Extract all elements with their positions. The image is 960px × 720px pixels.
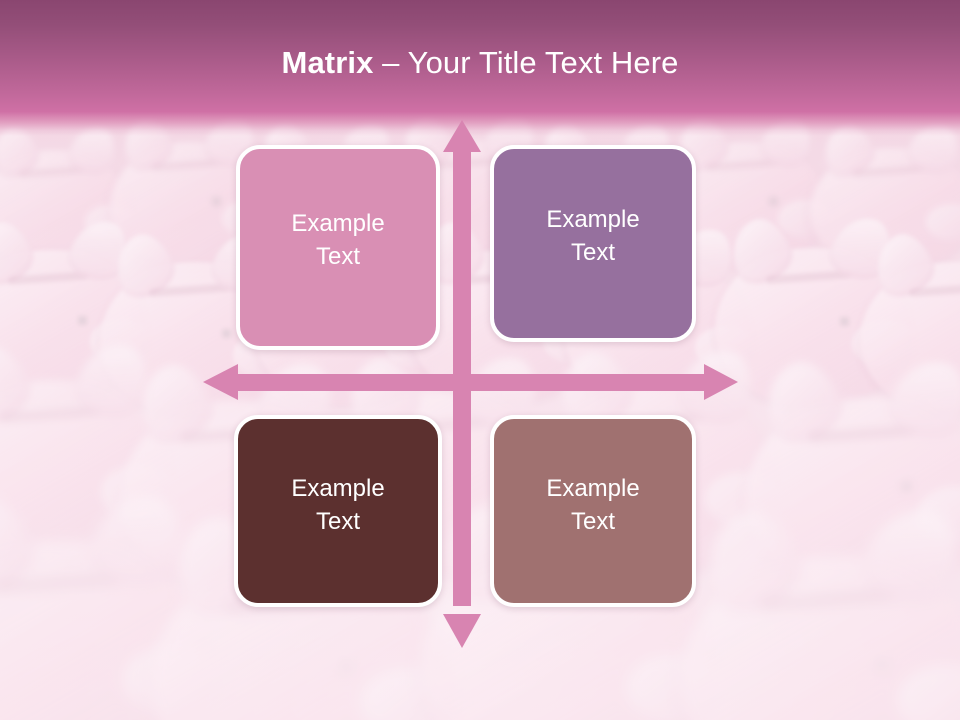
quadrant-top-left-label: Example Text xyxy=(291,207,384,273)
quadrant-top-right-label: Example Text xyxy=(546,203,639,269)
quadrant-top-left[interactable]: Example Text xyxy=(236,145,440,350)
page-title-rest: – Your Title Text Here xyxy=(373,45,678,80)
quadrant-top-right[interactable]: Example Text xyxy=(490,145,696,342)
slide-canvas: Matrix – Your Title Text Here Example Te… xyxy=(0,0,960,720)
page-title: Matrix – Your Title Text Here xyxy=(0,44,960,82)
quadrant-bottom-left-label: Example Text xyxy=(291,472,384,538)
quadrant-bottom-left[interactable]: Example Text xyxy=(234,415,442,607)
quadrant-bottom-right-label: Example Text xyxy=(546,472,639,538)
quadrant-bottom-right[interactable]: Example Text xyxy=(490,415,696,607)
page-title-strong: Matrix xyxy=(282,45,374,80)
